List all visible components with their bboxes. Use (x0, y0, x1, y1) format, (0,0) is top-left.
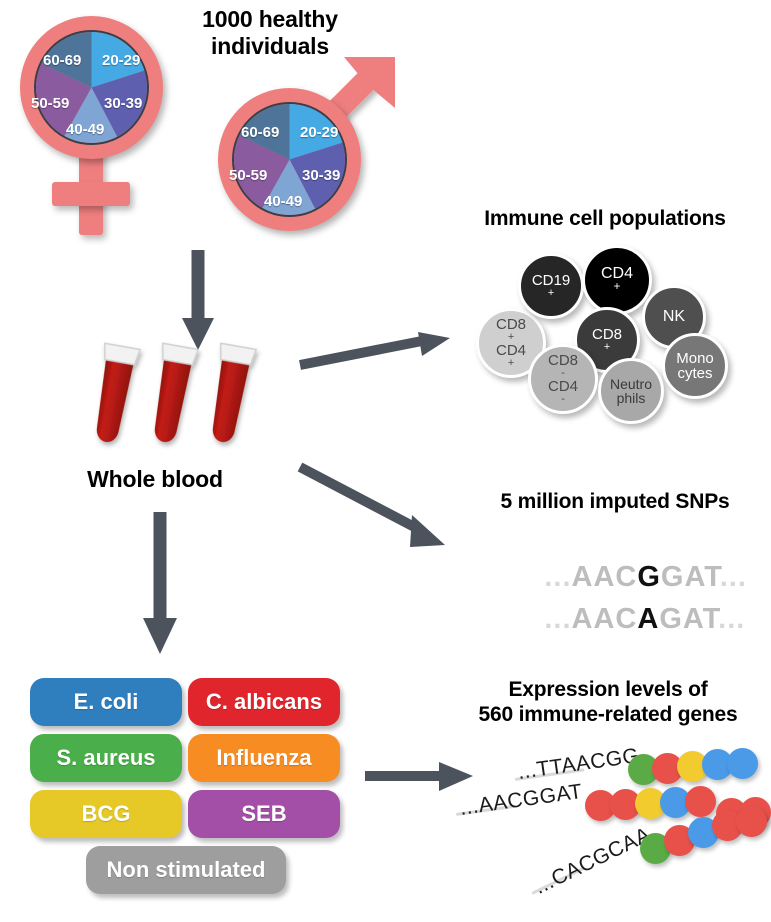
stimulation-s-aureus[interactable]: S. aureus (30, 734, 182, 782)
snp-sequence-block: ...AACGGAT... ...AACAGAT... (490, 528, 750, 618)
cell-cd8n-cd4n-line2: CD4- (548, 379, 578, 405)
stimulation-bcg[interactable]: BCG (30, 790, 182, 838)
stimulation-c-albicans[interactable]: C. albicans (188, 678, 340, 726)
female-pie-label-40-49: 40-49 (66, 121, 104, 138)
stimulation-influenza[interactable]: Influenza (188, 734, 340, 782)
snp-row-2: ...AACAGAT... (490, 570, 745, 669)
male-pie-label-40-49: 40-49 (264, 193, 302, 210)
female-pie-label-30-39: 30-39 (104, 95, 142, 112)
cell-cd8p-cd4p-line2: CD4+ (496, 343, 526, 369)
snp-row-2-suffix: ... (718, 603, 745, 635)
gene-strand-2-bead-5 (685, 786, 716, 817)
whole-blood-tubes (95, 336, 275, 461)
cell-cd19p: CD19+ (518, 253, 584, 319)
arrow-blood-to-stimulations (135, 512, 195, 657)
stimulation-e-coli[interactable]: E. coli (30, 678, 182, 726)
stimulation-bcg-label: BCG (82, 801, 131, 827)
stimulation-s-aureus-label: S. aureus (56, 745, 155, 771)
male-pie-label-50-59: 50-59 (229, 167, 267, 184)
female-symbol: 20-29 30-39 40-49 50-59 60-69 (8, 10, 188, 240)
stimulation-panel: E. coli C. albicans S. aureus Influenza … (30, 678, 350, 893)
cell-neutrophils-line1: Neutro (610, 377, 652, 391)
cell-cd4p-label: CD4+ (601, 266, 633, 294)
snp-row-2-prefix: ... (544, 603, 571, 635)
stimulation-influenza-label: Influenza (216, 745, 311, 771)
snp-row-2-post: GAT (659, 603, 718, 635)
expression-title-line2: 560 immune-related genes (452, 703, 764, 728)
arrow-blood-to-snps (300, 463, 460, 573)
arrow-blood-to-immune (300, 332, 460, 392)
male-pie-label-30-39: 30-39 (302, 167, 340, 184)
female-pie-label-50-59: 50-59 (31, 95, 69, 112)
expression-title: Expression levels of 560 immune-related … (452, 678, 764, 728)
cell-cd19p-label: CD19+ (532, 273, 570, 299)
gene-strand-2-sequence: ...AACGGAT (458, 780, 584, 821)
immune-title: Immune cell populations (455, 207, 755, 232)
gene-strand-1-bead-5 (727, 748, 758, 779)
whole-blood-label: Whole blood (60, 466, 250, 493)
gene-strand-1-sequence: ...TTAACGG (516, 744, 641, 785)
snp-row-2-variant: A (637, 603, 659, 635)
male-pie-label-20-29: 20-29 (300, 124, 338, 141)
expression-strands: ...TTAACGG ...AACGGAT ...CACGCAA (440, 740, 771, 915)
cell-monocytes-line2: cytes (676, 366, 714, 381)
figure-canvas: 1000 healthy individuals 20-29 30-39 40-… (0, 0, 771, 922)
female-symbol-cross (52, 182, 130, 206)
cell-cd8p-label: CD8+ (592, 327, 622, 353)
cell-monocytes-line1: Mono (676, 351, 714, 366)
cell-cd8n-cd4n: CD8- CD4- (528, 344, 598, 414)
immune-cell-cluster: CD8+ CD4+ CD19+ CD4+ CD8+ NK (450, 240, 771, 420)
male-symbol: 20-29 30-39 40-49 50-59 60-69 (205, 50, 415, 245)
gene-strand-3-bead-5 (736, 806, 767, 837)
cell-cd8n-cd4n-line1: CD8- (548, 353, 578, 379)
cell-neutrophils: Neutro phils (598, 358, 664, 424)
cell-nk-label: NK (663, 309, 685, 325)
stimulation-non-stimulated[interactable]: Non stimulated (86, 846, 286, 894)
snp-row-2-pre: AAC (572, 603, 638, 635)
female-pie-label-20-29: 20-29 (102, 52, 140, 69)
stimulation-c-albicans-label: C. albicans (206, 689, 322, 715)
stimulation-seb[interactable]: SEB (188, 790, 340, 838)
cell-monocytes: Mono cytes (662, 333, 728, 399)
cell-cd8p-cd4p-line1: CD8+ (496, 317, 526, 343)
stimulation-e-coli-label: E. coli (74, 689, 139, 715)
gene-strand-3-sequence: ...CACGCAA (531, 823, 655, 900)
stimulation-seb-label: SEB (241, 801, 286, 827)
expression-title-line1: Expression levels of (452, 678, 764, 703)
snps-title: 5 million imputed SNPs (470, 490, 760, 515)
cell-cd4p: CD4+ (582, 245, 652, 315)
female-pie-label-60-69: 60-69 (43, 52, 81, 69)
male-pie-label-60-69: 60-69 (241, 124, 279, 141)
cohort-title-line1: 1000 healthy (170, 6, 370, 33)
cell-neutrophils-line2: phils (610, 391, 652, 405)
stimulation-non-stimulated-label: Non stimulated (107, 857, 266, 883)
